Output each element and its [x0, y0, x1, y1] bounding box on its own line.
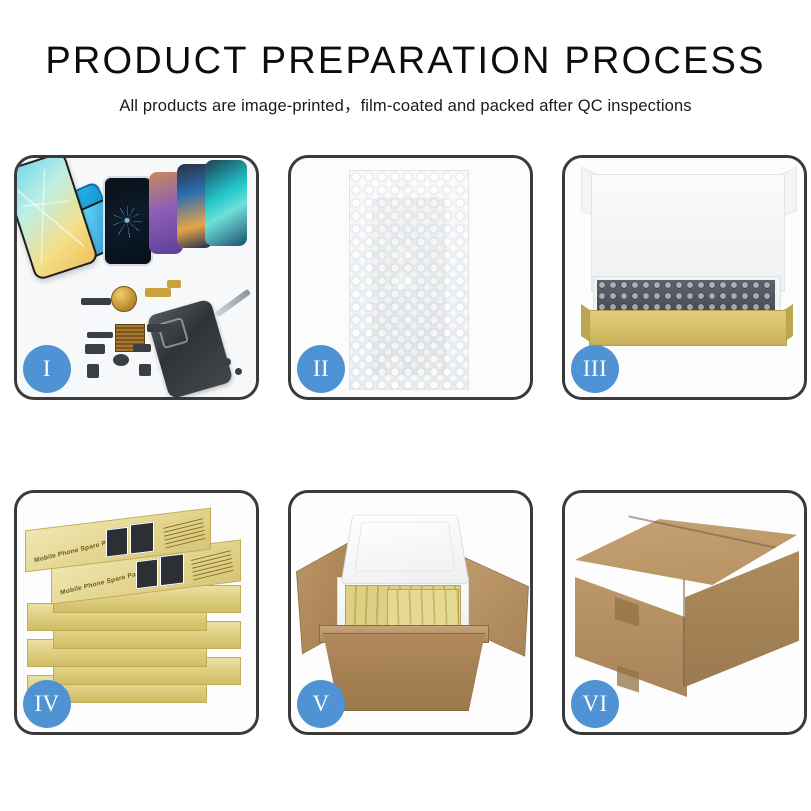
process-step-panel-6[interactable]: VI — [562, 490, 807, 735]
speaker-module-icon — [111, 286, 137, 312]
flex-cable-icon — [81, 298, 111, 305]
bubble-wrap-bag — [349, 170, 469, 390]
camera-module-icon — [85, 344, 105, 354]
teal-phone-icon — [205, 160, 247, 246]
tweezers-icon — [215, 289, 251, 317]
bubble-texture-overlay — [350, 171, 468, 389]
screen-photo-icon — [160, 553, 184, 586]
carton-body — [323, 633, 485, 711]
screw-icon — [223, 358, 231, 366]
ribbon-cable-icon — [147, 324, 173, 332]
process-step-panel-3[interactable]: III — [562, 155, 807, 400]
step-badge-3: III — [571, 345, 619, 393]
gold-clip-icon — [167, 280, 181, 288]
product-preparation-page: PRODUCT PREPARATION PROCESS All products… — [0, 0, 811, 811]
sim-tray-icon — [87, 364, 99, 378]
bubble-wrapped-contents — [597, 280, 775, 312]
step-badge-4: IV — [23, 680, 71, 728]
antenna-strip-icon — [87, 332, 113, 338]
button-icon — [113, 354, 129, 366]
process-step-panel-1[interactable]: I — [14, 155, 259, 400]
screen-photo-icon — [106, 527, 128, 558]
process-step-panel-5[interactable]: V — [288, 490, 533, 735]
cracked-screen-icon — [113, 206, 141, 238]
process-step-grid: I II — [14, 155, 797, 735]
gold-box-front — [589, 310, 787, 346]
page-header: PRODUCT PREPARATION PROCESS All products… — [0, 0, 811, 116]
step-badge-1: I — [23, 345, 71, 393]
box-spec-lines — [163, 515, 206, 548]
step-badge-5: V — [297, 680, 345, 728]
process-step-panel-4[interactable]: Mobile Phone Spare Parts Mobile Phone Sp… — [14, 490, 259, 735]
step-badge-2: II — [297, 345, 345, 393]
step-badge-6: VI — [571, 680, 619, 728]
box-lid-icon — [591, 174, 785, 292]
screen-photo-icon — [136, 559, 158, 590]
carton-corner-seam — [683, 579, 685, 687]
vibrator-icon — [139, 364, 151, 376]
gold-bracket-icon — [145, 288, 171, 297]
process-step-panel-2[interactable]: II — [288, 155, 533, 400]
box-label-text: Mobile Phone Spare Parts — [60, 569, 145, 597]
foam-lid-icon — [341, 515, 470, 584]
page-subtitle: All products are image-printed，film-coat… — [0, 92, 811, 116]
box-spec-lines — [191, 547, 234, 580]
screen-photo-icon — [130, 522, 154, 555]
page-title: PRODUCT PREPARATION PROCESS — [0, 42, 811, 82]
screw-icon — [235, 368, 242, 375]
connector-icon — [133, 344, 151, 352]
